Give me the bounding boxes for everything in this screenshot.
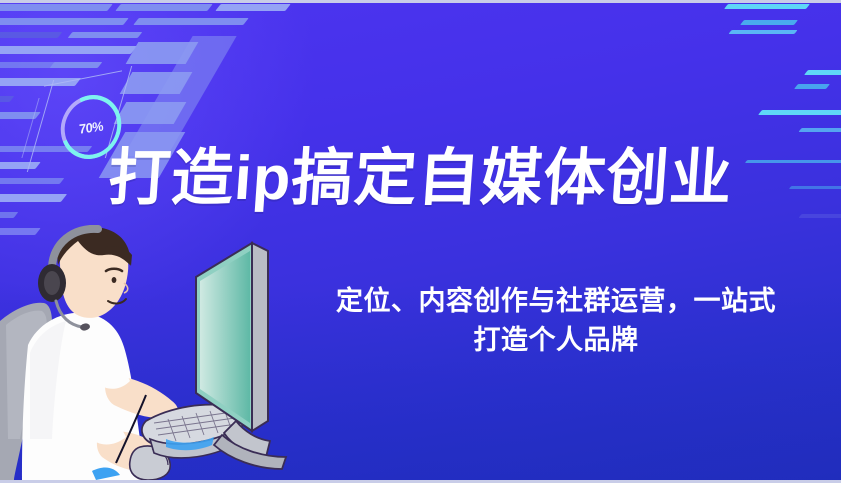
illustration-man-at-computer <box>0 225 330 480</box>
poster-title: 打造ip搞定自媒体创业 <box>0 148 841 210</box>
top-edge-strip <box>0 0 841 3</box>
poster-subtitle: 定位、内容创作与社群运营，一站式 打造个人品牌 <box>296 282 816 360</box>
poster-subtitle-line2: 打造个人品牌 <box>296 321 816 360</box>
promo-poster: 70% 打造ip搞定自媒体创业 定位、内容创作与社群运营，一站式 打造个人品牌 <box>0 0 841 483</box>
poster-subtitle-line1: 定位、内容创作与社群运营，一站式 <box>336 286 776 316</box>
